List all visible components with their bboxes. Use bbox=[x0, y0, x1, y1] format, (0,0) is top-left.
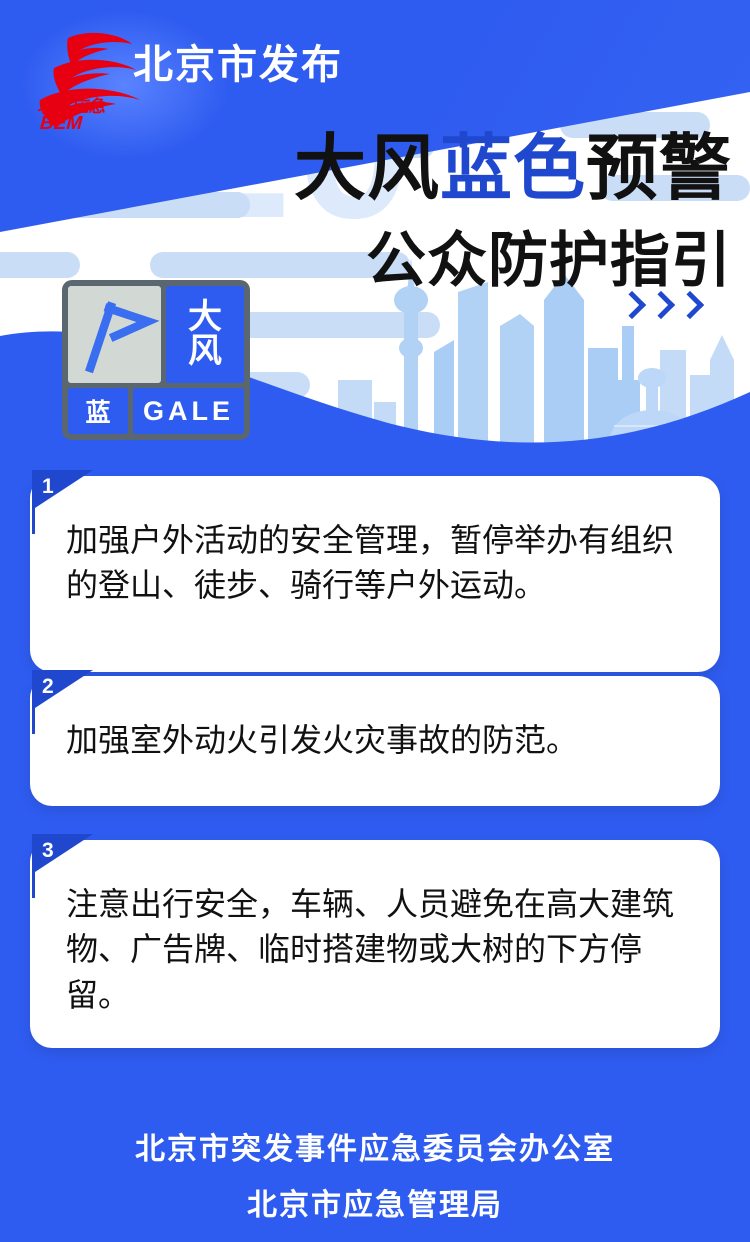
chevron-right-icon bbox=[618, 291, 646, 319]
advice-card-text: 加强室外动火引发火灾事故的防范。 bbox=[66, 718, 696, 763]
chevron-right-icon bbox=[676, 291, 704, 319]
page-title: 大风蓝色预警 bbox=[294, 133, 732, 205]
title-part-2: 预警 bbox=[586, 129, 732, 209]
sign-label-en: GALE bbox=[133, 388, 244, 434]
footer-line-1: 北京市突发事件应急委员会办公室 bbox=[0, 1124, 750, 1168]
sign-char-1: 大 bbox=[188, 301, 222, 334]
flag-pole bbox=[32, 670, 35, 734]
chevron-group bbox=[622, 295, 700, 315]
sign-char-2: 风 bbox=[188, 335, 222, 368]
advice-card-text: 注意出行安全，车辆、人员避免在高大建筑物、广告牌、临时搭建物或大树的下方停留。 bbox=[66, 882, 696, 1018]
flag-pole bbox=[32, 834, 35, 898]
sign-label-cn: 大 风 bbox=[166, 286, 244, 383]
title-highlight: 蓝色 bbox=[440, 129, 586, 209]
wind-flag-pictogram-icon bbox=[68, 286, 161, 383]
advice-card-1: 加强户外活动的安全管理，暂停举办有组织的登山、徒步、骑行等户外运动。 bbox=[30, 476, 720, 672]
poster-root: 20 bbox=[0, 0, 750, 1242]
advice-card-text: 加强户外活动的安全管理，暂停举办有组织的登山、徒步、骑行等户外运动。 bbox=[66, 518, 696, 609]
brand-title: 北京市发布 bbox=[133, 32, 343, 90]
title-part-1: 大风 bbox=[294, 129, 440, 209]
sign-bottom-row: 蓝 GALE bbox=[68, 388, 244, 434]
chevron-right-icon bbox=[647, 291, 675, 319]
bem-logo-icon: 北京应急 BEM bbox=[28, 24, 146, 136]
page-subtitle: 公众防护指引 bbox=[366, 231, 732, 291]
wind-bar-decoration bbox=[0, 252, 80, 278]
advice-card-2: 加强室外动火引发火灾事故的防范。 bbox=[30, 676, 720, 806]
sign-gale-wrap: GALE bbox=[133, 388, 244, 434]
gale-warning-sign: 大 风 蓝 GALE bbox=[62, 280, 250, 440]
footer-line-2: 北京市应急管理局 bbox=[0, 1180, 750, 1224]
advice-card-number: 1 bbox=[42, 476, 54, 497]
advice-card-3: 注意出行安全，车辆、人员避免在高大建筑物、广告牌、临时搭建物或大树的下方停留。 bbox=[30, 840, 720, 1048]
advice-card-number: 3 bbox=[42, 840, 54, 861]
logo-text-en: BEM bbox=[37, 113, 84, 134]
sign-level-label: 蓝 bbox=[68, 388, 128, 434]
flag-pole bbox=[32, 470, 35, 534]
advice-card-number: 2 bbox=[42, 676, 54, 697]
